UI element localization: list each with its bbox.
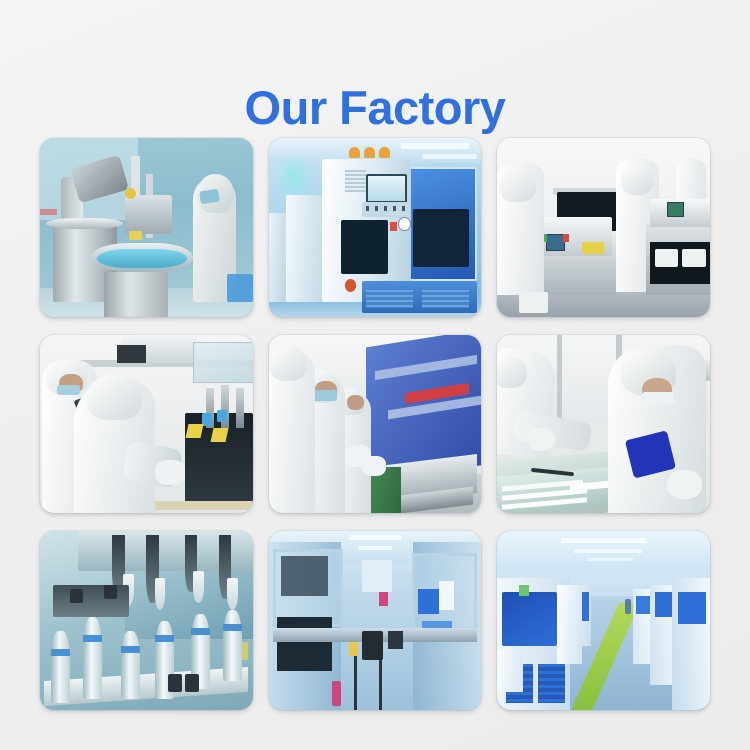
factory-photo-tile[interactable]	[497, 531, 710, 710]
photo-cleanroom-corridor-automation	[269, 531, 482, 710]
factory-photo-tile[interactable]	[40, 531, 253, 710]
photo-assembly-line-conveyor	[269, 335, 482, 514]
factory-gallery-page: Our Factory	[0, 0, 750, 750]
photo-inspection-table-operators	[497, 335, 710, 514]
photo-ampoule-filling-line	[40, 531, 253, 710]
factory-photo-tile[interactable]	[40, 138, 253, 317]
factory-photo-tile[interactable]	[269, 335, 482, 514]
page-title: Our Factory	[0, 83, 750, 132]
factory-photo-tile[interactable]	[40, 335, 253, 514]
factory-photo-tile[interactable]	[497, 335, 710, 514]
factory-photo-grid	[40, 138, 710, 710]
factory-photo-tile[interactable]	[497, 138, 710, 317]
photo-factory-aisle-machine-rows	[497, 531, 710, 710]
photo-laboratory-bench-workers	[40, 335, 253, 514]
photo-mixing-vessel-operator	[40, 138, 253, 317]
factory-photo-tile[interactable]	[269, 138, 482, 317]
photo-cleanroom-benchtop-stations	[497, 138, 710, 317]
factory-photo-tile[interactable]	[269, 531, 482, 710]
photo-automated-production-machine	[269, 138, 482, 317]
